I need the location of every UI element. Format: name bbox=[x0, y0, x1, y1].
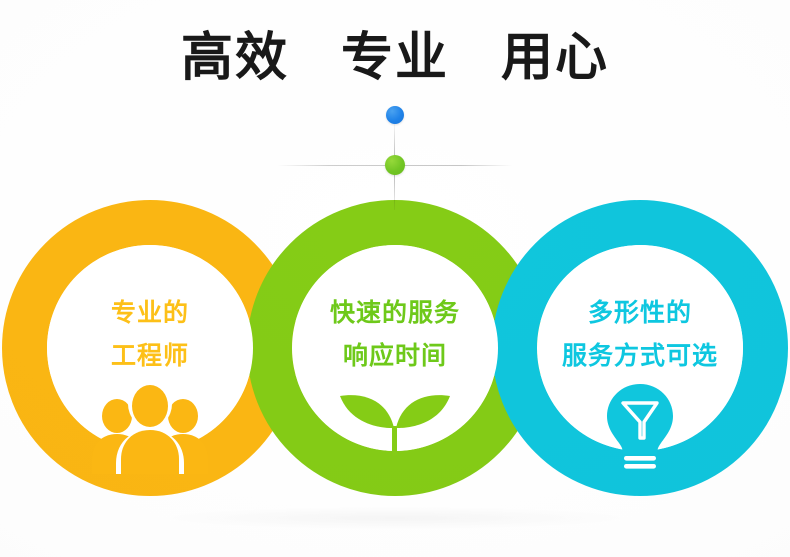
connector-decoration bbox=[0, 100, 790, 210]
poster-canvas: 高效专业用心 专业的 工程师 bbox=[0, 0, 790, 557]
green-dot-icon bbox=[385, 155, 405, 175]
circle-service-modes-text: 多形性的 服务方式可选 bbox=[492, 292, 788, 378]
circle-service-modes[interactable]: 多形性的 服务方式可选 bbox=[492, 200, 788, 496]
headline-word-2: 专业 bbox=[315, 28, 475, 88]
headline-word-3: 用心 bbox=[475, 28, 635, 88]
lightbulb-icon bbox=[492, 382, 788, 474]
page-title: 高效专业用心 bbox=[0, 28, 790, 88]
blue-dot-icon bbox=[386, 106, 404, 124]
circle-service-modes-line-1: 多形性的 bbox=[492, 292, 788, 335]
circle-service-modes-line-2: 服务方式可选 bbox=[492, 335, 788, 378]
ground-shadow bbox=[0, 499, 790, 537]
headline-word-1: 高效 bbox=[155, 28, 315, 88]
